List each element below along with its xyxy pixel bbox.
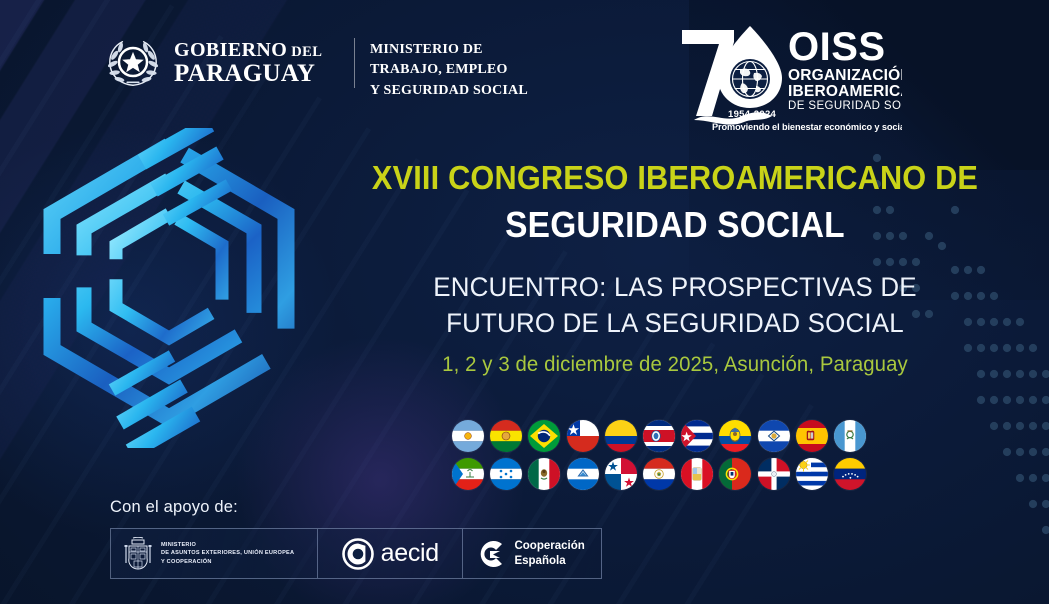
- event-dateline: 1, 2 y 3 de diciembre de 2025, Asunción,…: [336, 353, 1015, 377]
- oiss-org-line1: ORGANIZACIÓN: [788, 66, 902, 84]
- page-title-line2: SEGURIDAD SOCIAL: [350, 202, 1001, 247]
- ministerio-trabajo-wordmark: MINISTERIO DE TRABAJO, EMPLEO Y SEGURIDA…: [370, 40, 528, 101]
- flag-guinea-ecuatorial-icon: [452, 458, 484, 490]
- flag-chile-icon: [567, 420, 599, 452]
- flag-row-2: [452, 458, 878, 490]
- flag-peru-icon: [681, 458, 713, 490]
- flag-mexico-icon: [528, 458, 560, 490]
- flag-republica-dominicana-icon: [758, 458, 790, 490]
- flag-venezuela-icon: [834, 458, 866, 490]
- congress-hexagon-emblem: [24, 128, 314, 448]
- subtitle-line1: ENCUENTRO: LAS PROSPECTIVAS DE: [339, 269, 1011, 305]
- flag-portugal-icon: [719, 458, 751, 490]
- gov-line1-suffix: DEL: [291, 44, 322, 60]
- aecid-wordmark: aecid: [381, 539, 439, 568]
- subtitle-line2: FUTURO DE LA SEGURIDAD SOCIAL: [339, 305, 1011, 341]
- flag-ecuador-icon: [719, 420, 751, 452]
- flag-row-1: [452, 420, 878, 452]
- member-country-flags: [452, 420, 878, 496]
- coop-line1: Cooperación: [514, 539, 584, 553]
- main-text-block: XVIII CONGRESO IBEROAMERICANO DE SEGURID…: [325, 160, 1025, 377]
- oiss-years: 1954-2024: [728, 109, 777, 120]
- support-label: Con el apoyo de:: [110, 498, 602, 517]
- flag-el-salvador-icon: [758, 420, 790, 452]
- oiss-logo-icon: OISS ORGANIZACIÓN IBEROAMERICANA DE SEGU…: [676, 20, 902, 132]
- support-logo-cooperacion-espanola: Cooperación Española: [462, 529, 601, 578]
- spain-coat-of-arms-icon: [123, 537, 153, 571]
- gobierno-paraguay-logo: GOBIERNO DEL PARAGUAY: [104, 34, 322, 92]
- nested-hexagon-logo-icon: [24, 128, 314, 448]
- coop-line2: Española: [514, 554, 584, 568]
- oiss-org-line2: IBEROAMERICANA: [788, 83, 902, 100]
- flag-uruguay-icon: [796, 458, 828, 490]
- oiss-org-line3: DE SEGURIDAD SOCIAL: [788, 100, 902, 112]
- support-logos-box: MINISTERIO DE ASUNTOS EXTERIORES, UNIÓN …: [110, 528, 602, 579]
- ministerio-line2: TRABAJO, EMPLEO: [370, 60, 528, 80]
- laurel-wreath-star-icon: [104, 34, 162, 92]
- poster-canvas: GOBIERNO DEL PARAGUAY MINISTERIO DE TRAB…: [0, 0, 1049, 604]
- flag-brasil-icon: [528, 420, 560, 452]
- min-ext-line2: DE ASUNTOS EXTERIORES, UNIÓN EUROPEA: [161, 549, 294, 557]
- flag-panama-icon: [605, 458, 637, 490]
- flag-colombia-icon: [605, 420, 637, 452]
- flag-paraguay-icon: [643, 458, 675, 490]
- gov-line2: PARAGUAY: [174, 61, 322, 86]
- oiss-tagline: Promoviendo el bienestar económico y soc…: [712, 122, 902, 132]
- subtitle: ENCUENTRO: LAS PROSPECTIVAS DE FUTURO DE…: [339, 269, 1011, 341]
- flag-honduras-icon: [490, 458, 522, 490]
- ministerio-line1: MINISTERIO DE: [370, 40, 528, 60]
- flag-cuba-icon: [681, 420, 713, 452]
- flag-costa-rica-icon: [643, 420, 675, 452]
- flag-guatemala-icon: [834, 420, 866, 452]
- ministerio-line3: Y SEGURIDAD SOCIAL: [370, 81, 528, 101]
- oiss-acronym: OISS: [788, 25, 886, 69]
- oiss-logo: OISS ORGANIZACIÓN IBEROAMERICANA DE SEGU…: [676, 20, 902, 132]
- min-ext-line3: Y COOPERACIÓN: [161, 558, 294, 566]
- cooperacion-espanola-mark-icon: [474, 538, 506, 570]
- gobierno-paraguay-wordmark: GOBIERNO DEL PARAGUAY: [174, 40, 322, 86]
- flag-bolivia-icon: [490, 420, 522, 452]
- gov-line1-main: GOBIERNO: [174, 39, 287, 61]
- support-logo-ministerio-exteriores: MINISTERIO DE ASUNTOS EXTERIORES, UNIÓN …: [111, 529, 317, 578]
- flag-argentina-icon: [452, 420, 484, 452]
- min-ext-line1: MINISTERIO: [161, 541, 294, 549]
- cooperacion-espanola-text: Cooperación Española: [514, 539, 584, 567]
- ministerio-exteriores-text: MINISTERIO DE ASUNTOS EXTERIORES, UNIÓN …: [161, 541, 294, 566]
- flag-espana-icon: [796, 420, 828, 452]
- support-section: Con el apoyo de: MINI: [110, 498, 602, 579]
- page-title-line1: XVIII CONGRESO IBEROAMERICANO DE: [350, 160, 1001, 196]
- flag-nicaragua-icon: [567, 458, 599, 490]
- header-divider: [354, 38, 355, 88]
- aecid-mark-icon: [341, 537, 375, 571]
- support-logo-aecid: aecid: [318, 529, 462, 578]
